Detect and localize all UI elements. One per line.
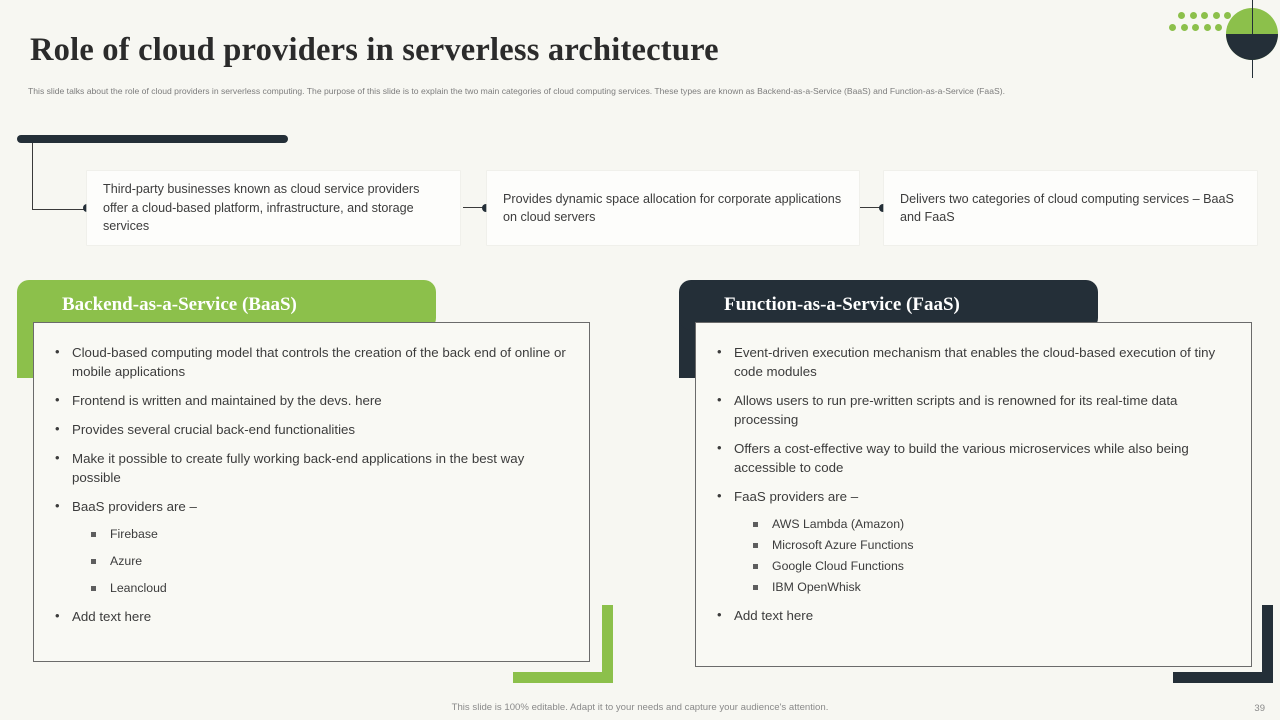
page-number: 39 xyxy=(1254,703,1265,714)
bullet-text: Frontend is written and maintained by th… xyxy=(72,393,382,408)
list-item[interactable]: Make it possible to create fully working… xyxy=(52,449,571,487)
bullet-text: Add text here xyxy=(72,609,151,624)
flow-box-3[interactable]: Delivers two categories of cloud computi… xyxy=(884,171,1257,245)
sub-bullet-text: IBM OpenWhisk xyxy=(772,580,861,594)
list-item[interactable]: Cloud-based computing model that control… xyxy=(52,343,571,381)
bullet-text: Cloud-based computing model that control… xyxy=(72,345,566,379)
list-item[interactable]: Azure xyxy=(52,553,571,570)
flow-box-3-text: Delivers two categories of cloud computi… xyxy=(900,190,1241,227)
list-item[interactable]: Allows users to run pre-written scripts … xyxy=(714,391,1233,429)
panel-baas-sub-list: Firebase Azure Leancloud xyxy=(52,526,571,597)
sub-bullet-text: Leancloud xyxy=(110,581,167,595)
panel-baas-body: Cloud-based computing model that control… xyxy=(33,322,590,662)
list-item[interactable]: Add text here xyxy=(52,607,571,626)
page-title: Role of cloud providers in serverless ar… xyxy=(30,32,719,69)
bullet-text: Make it possible to create fully working… xyxy=(72,451,524,485)
sub-bullet-text: Google Cloud Functions xyxy=(772,559,904,573)
sub-bullet-text: Firebase xyxy=(110,527,158,541)
flow-box-2[interactable]: Provides dynamic space allocation for co… xyxy=(487,171,859,245)
panel-faas-sub-list: AWS Lambda (Amazon) Microsoft Azure Func… xyxy=(714,516,1233,596)
list-item[interactable]: Frontend is written and maintained by th… xyxy=(52,391,571,410)
list-item[interactable]: Offers a cost-effective way to build the… xyxy=(714,439,1233,477)
list-item[interactable]: Event-driven execution mechanism that en… xyxy=(714,343,1233,381)
page-subtitle: This slide talks about the role of cloud… xyxy=(28,85,1238,98)
bullet-text: BaaS providers are – xyxy=(72,499,197,514)
sub-bullet-text: AWS Lambda (Amazon) xyxy=(772,517,904,531)
panel-baas-heading-text: Backend-as-a-Service (BaaS) xyxy=(62,294,297,316)
vertical-line-decoration xyxy=(1252,0,1253,78)
list-item[interactable]: Provides several crucial back-end functi… xyxy=(52,420,571,439)
title-underline-bar xyxy=(17,135,288,143)
flow-box-1-text: Third-party businesses known as cloud se… xyxy=(103,180,444,236)
list-item[interactable]: Google Cloud Functions xyxy=(714,558,1233,575)
slide-footer-note: This slide is 100% editable. Adapt it to… xyxy=(0,702,1280,713)
list-item[interactable]: Add text here xyxy=(714,606,1233,625)
panel-faas-body: Event-driven execution mechanism that en… xyxy=(695,322,1252,667)
list-item[interactable]: AWS Lambda (Amazon) xyxy=(714,516,1233,533)
list-item[interactable]: FaaS providers are – xyxy=(714,487,1233,506)
flow-box-1[interactable]: Third-party businesses known as cloud se… xyxy=(87,171,460,245)
bullet-text: Allows users to run pre-written scripts … xyxy=(734,393,1177,427)
sub-bullet-text: Microsoft Azure Functions xyxy=(772,538,913,552)
bullet-text: FaaS providers are – xyxy=(734,489,858,504)
bullet-text: Event-driven execution mechanism that en… xyxy=(734,345,1215,379)
bullet-text: Provides several crucial back-end functi… xyxy=(72,422,355,437)
list-item[interactable]: IBM OpenWhisk xyxy=(714,579,1233,596)
panel-faas-bullet-list-tail: Add text here xyxy=(714,606,1233,625)
panel-baas-bullet-list-tail: Add text here xyxy=(52,607,571,626)
panel-baas-bullet-list: Cloud-based computing model that control… xyxy=(52,343,571,516)
sub-bullet-text: Azure xyxy=(110,554,142,568)
list-item[interactable]: Leancloud xyxy=(52,580,571,597)
bullet-text: Offers a cost-effective way to build the… xyxy=(734,441,1189,475)
list-item[interactable]: Microsoft Azure Functions xyxy=(714,537,1233,554)
panel-faas-heading-text: Function-as-a-Service (FaaS) xyxy=(724,294,960,316)
flow-box-2-text: Provides dynamic space allocation for co… xyxy=(503,190,843,227)
list-item[interactable]: Firebase xyxy=(52,526,571,543)
bullet-text: Add text here xyxy=(734,608,813,623)
list-item[interactable]: BaaS providers are – xyxy=(52,497,571,516)
panel-faas-bullet-list: Event-driven execution mechanism that en… xyxy=(714,343,1233,506)
flow-connector-elbow xyxy=(32,143,90,210)
